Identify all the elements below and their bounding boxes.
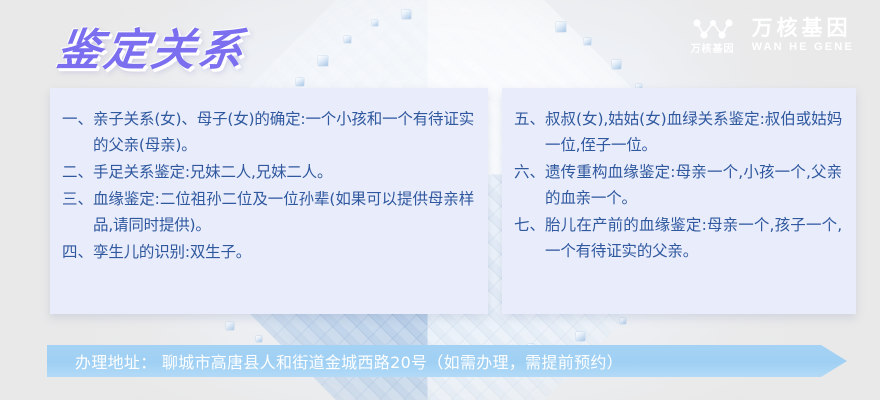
kinship-list-right: 五、 叔叔(女),姑姑(女)血绿关系鉴定:叔伯或姑妈一位,侄子一位。 六、 遗传… bbox=[514, 106, 842, 264]
content-panels: 一、 亲子关系(女)、母子(女)的确定:一个小孩和一个有待证实的父亲(母亲)。 … bbox=[50, 88, 856, 314]
list-item-text: 手足关系鉴定:兄妹二人,兄妹二人。 bbox=[93, 159, 474, 185]
list-item-number: 一、 bbox=[62, 106, 93, 132]
list-item-text: 亲子关系(女)、母子(女)的确定:一个小孩和一个有待证实的父亲(母亲)。 bbox=[93, 106, 474, 158]
list-item-text: 胎儿在产前的血缘鉴定:母亲一个,孩子一个,一个有待证实的父亲。 bbox=[545, 212, 842, 264]
list-item-number: 七、 bbox=[514, 212, 545, 238]
ribbon-body: 办理地址： 聊城市高唐县人和街道金城西路20号（如需办理，需提前预约） bbox=[47, 345, 847, 377]
molecule-network-icon bbox=[690, 16, 736, 42]
kinship-testing-banner: 鉴定关系 万核基因 万核基因 WAN HE GENE bbox=[0, 0, 880, 400]
panel-left: 一、 亲子关系(女)、母子(女)的确定:一个小孩和一个有待证实的父亲(母亲)。 … bbox=[50, 88, 488, 314]
list-item: 三、 血缘鉴定:二位祖孙二位及一位孙辈(如果可以提供母亲样品,请同时提供)。 bbox=[62, 186, 474, 238]
address-ribbon: 办理地址： 聊城市高唐县人和街道金城西路20号（如需办理，需提前预约） bbox=[47, 345, 847, 377]
address-text: 办理地址： 聊城市高唐县人和街道金城西路20号（如需办理，需提前预约） bbox=[47, 349, 623, 373]
list-item-number: 二、 bbox=[62, 159, 93, 185]
brand-name-cn: 万核基因 bbox=[752, 18, 854, 39]
list-item-number: 六、 bbox=[514, 159, 545, 185]
list-item-number: 三、 bbox=[62, 186, 93, 212]
brand-mark-label: 万核基因 bbox=[691, 45, 735, 55]
list-item: 四、 孪生儿的识别:双生子。 bbox=[62, 239, 474, 265]
list-item-text: 叔叔(女),姑姑(女)血绿关系鉴定:叔伯或姑妈一位,侄子一位。 bbox=[545, 106, 842, 158]
list-item-number: 五、 bbox=[514, 106, 545, 132]
list-item-text: 遗传重构血缘鉴定:母亲一个,小孩一个,父亲的血亲一个。 bbox=[545, 159, 842, 211]
page-title: 鉴定关系 bbox=[54, 14, 251, 78]
list-item-number: 四、 bbox=[62, 239, 93, 265]
panel-right: 五、 叔叔(女),姑姑(女)血绿关系鉴定:叔伯或姑妈一位,侄子一位。 六、 遗传… bbox=[502, 88, 856, 314]
list-item-text: 孪生儿的识别:双生子。 bbox=[93, 239, 474, 265]
brand-mark: 万核基因 bbox=[690, 16, 736, 55]
brand-name-en: WAN HE GENE bbox=[752, 42, 854, 53]
list-item: 一、 亲子关系(女)、母子(女)的确定:一个小孩和一个有待证实的父亲(母亲)。 bbox=[62, 106, 474, 158]
list-item: 二、 手足关系鉴定:兄妹二人,兄妹二人。 bbox=[62, 159, 474, 185]
list-item: 五、 叔叔(女),姑姑(女)血绿关系鉴定:叔伯或姑妈一位,侄子一位。 bbox=[514, 106, 842, 158]
brand-logo: 万核基因 万核基因 WAN HE GENE bbox=[690, 16, 854, 55]
list-item: 七、 胎儿在产前的血缘鉴定:母亲一个,孩子一个,一个有待证实的父亲。 bbox=[514, 212, 842, 264]
kinship-list-left: 一、 亲子关系(女)、母子(女)的确定:一个小孩和一个有待证实的父亲(母亲)。 … bbox=[62, 106, 474, 265]
brand-wordmark: 万核基因 WAN HE GENE bbox=[752, 18, 854, 53]
list-item: 六、 遗传重构血缘鉴定:母亲一个,小孩一个,父亲的血亲一个。 bbox=[514, 159, 842, 211]
list-item-text: 血缘鉴定:二位祖孙二位及一位孙辈(如果可以提供母亲样品,请同时提供)。 bbox=[93, 186, 474, 238]
